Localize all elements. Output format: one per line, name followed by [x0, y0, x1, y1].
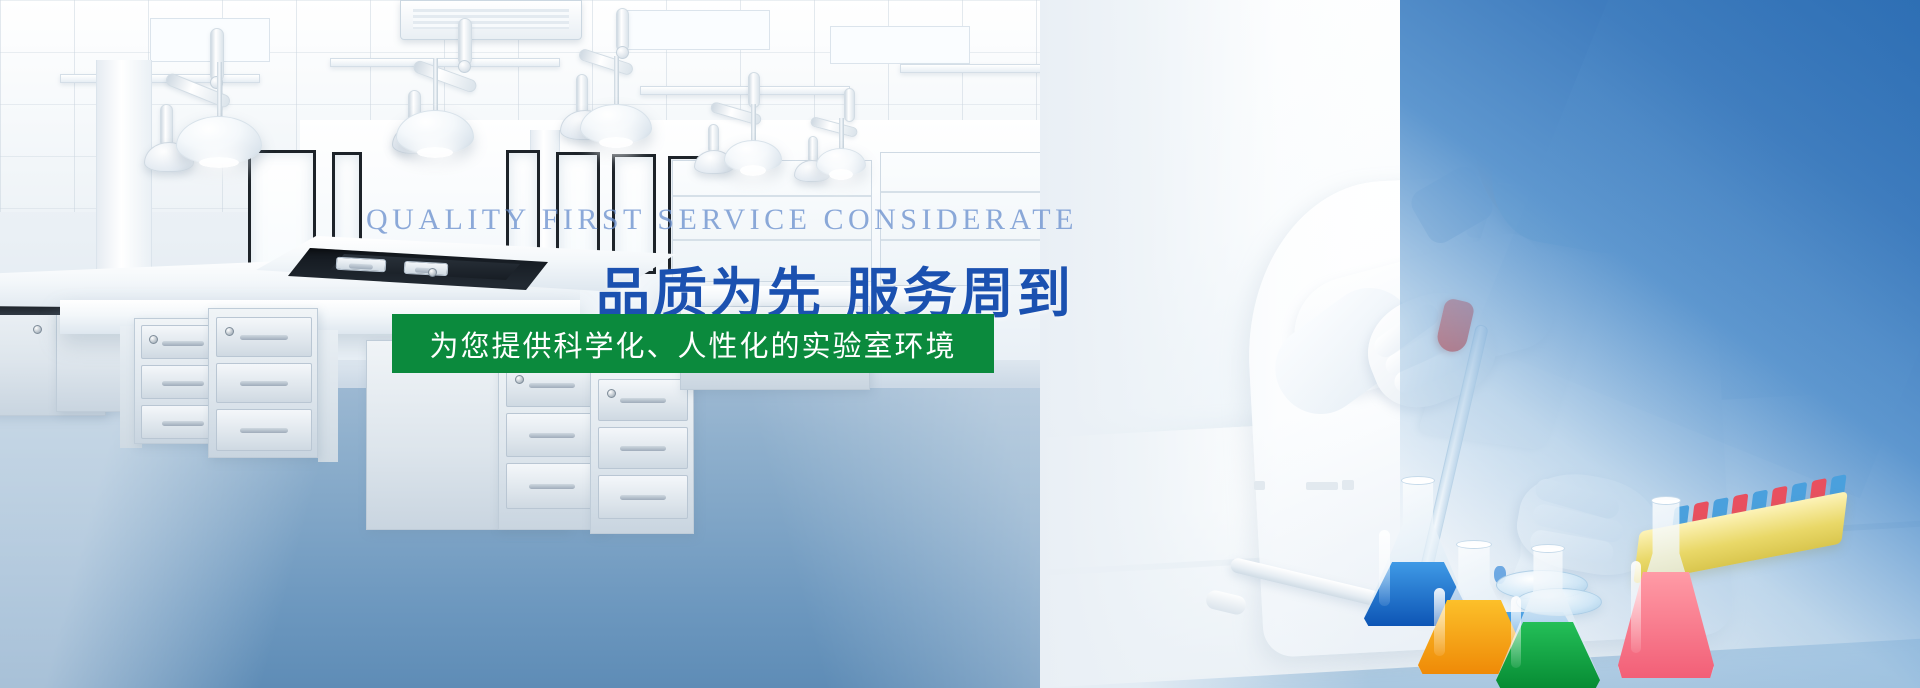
banner-text-overlay: QUALITY FIRST SERVICE CONSIDERATE 品质为先 服…	[0, 0, 1920, 688]
english-tagline: QUALITY FIRST SERVICE CONSIDERATE	[366, 203, 1026, 237]
hero-banner: QUALITY FIRST SERVICE CONSIDERATE 品质为先 服…	[0, 0, 1920, 688]
green-subtitle-text: 为您提供科学化、人性化的实验室环境	[429, 323, 956, 365]
green-subtitle-bar: 为您提供科学化、人性化的实验室环境	[392, 314, 994, 373]
